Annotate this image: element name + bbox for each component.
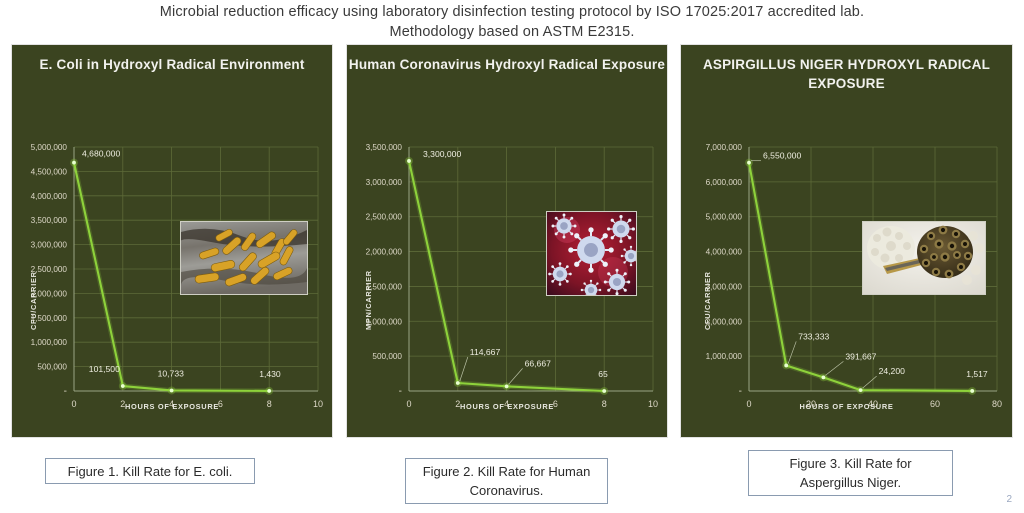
svg-text:101,500: 101,500 xyxy=(89,364,120,374)
header-line-1: Microbial reduction efficacy using labor… xyxy=(0,2,1024,22)
svg-text:3,000,000: 3,000,000 xyxy=(31,241,68,250)
svg-text:733,333: 733,333 xyxy=(798,331,829,341)
inset-image-aspergillus xyxy=(862,221,986,295)
svg-text:1,517: 1,517 xyxy=(966,369,988,379)
y-axis-title: CFU/CARRIER xyxy=(703,271,712,330)
svg-text:24,200: 24,200 xyxy=(879,366,906,376)
svg-text:3,500,000: 3,500,000 xyxy=(31,216,68,225)
charts-row: E. Coli in Hydroxyl Radical Environment … xyxy=(0,45,1024,437)
svg-text:5,000,000: 5,000,000 xyxy=(706,213,743,222)
svg-text:391,667: 391,667 xyxy=(845,351,876,361)
svg-text:6,000,000: 6,000,000 xyxy=(706,178,743,187)
svg-text:6,550,000: 6,550,000 xyxy=(763,151,801,161)
figure-caption-2: Figure 2. Kill Rate for Human Coronaviru… xyxy=(405,458,608,504)
document-header: Microbial reduction efficacy using labor… xyxy=(0,2,1024,42)
inset-image-ecoli xyxy=(180,221,308,295)
svg-text:2,000,000: 2,000,000 xyxy=(366,248,403,257)
header-line-2: Methodology based on ASTM E2315. xyxy=(0,22,1024,42)
svg-text:65: 65 xyxy=(598,369,608,379)
svg-text:2,500,000: 2,500,000 xyxy=(366,213,403,222)
chart-panel-ecoli: E. Coli in Hydroxyl Radical Environment … xyxy=(12,45,332,437)
svg-text:-: - xyxy=(739,386,742,397)
svg-text:4,680,000: 4,680,000 xyxy=(82,149,120,159)
x-axis-title: HOURS OF EXPOSURE xyxy=(681,402,1012,411)
svg-text:3,000,000: 3,000,000 xyxy=(366,178,403,187)
svg-text:500,000: 500,000 xyxy=(37,363,67,372)
page-number: 2 xyxy=(1006,494,1012,505)
svg-text:10,733: 10,733 xyxy=(158,368,185,378)
svg-text:3,300,000: 3,300,000 xyxy=(423,149,461,159)
chart-panel-aspergillus: ASPIRGILLUS NIGER HYDROXYL RADICAL EXPOS… xyxy=(681,45,1012,437)
svg-text:114,667: 114,667 xyxy=(470,347,501,357)
svg-text:4,000,000: 4,000,000 xyxy=(31,192,68,201)
svg-text:3,500,000: 3,500,000 xyxy=(366,143,403,152)
svg-text:1,000,000: 1,000,000 xyxy=(706,352,743,361)
svg-text:-: - xyxy=(64,386,67,397)
figure-caption-3: Figure 3. Kill Rate for Aspergillus Nige… xyxy=(748,450,953,496)
svg-text:-: - xyxy=(399,386,402,397)
y-axis-title: CFU/CARRIER xyxy=(29,271,38,330)
x-axis-title: HOURS OF EXPOSURE xyxy=(12,402,332,411)
x-axis-title: HOURS OF EXPOSURE xyxy=(347,402,667,411)
chart-panel-coronavirus: Human Coronavirus Hydroxyl Radical Expos… xyxy=(347,45,667,437)
y-axis-title: MPN/CARRIER xyxy=(364,270,373,330)
inset-image-coronavirus xyxy=(546,211,637,296)
svg-text:500,000: 500,000 xyxy=(372,352,402,361)
svg-text:7,000,000: 7,000,000 xyxy=(706,143,743,152)
svg-text:1,430: 1,430 xyxy=(259,369,281,379)
svg-text:4,500,000: 4,500,000 xyxy=(31,167,68,176)
svg-text:66,667: 66,667 xyxy=(525,358,552,368)
svg-text:4,000,000: 4,000,000 xyxy=(706,248,743,257)
figure-caption-1: Figure 1. Kill Rate for E. coli. xyxy=(45,458,255,484)
svg-text:1,000,000: 1,000,000 xyxy=(31,338,68,347)
svg-text:5,000,000: 5,000,000 xyxy=(31,143,68,152)
